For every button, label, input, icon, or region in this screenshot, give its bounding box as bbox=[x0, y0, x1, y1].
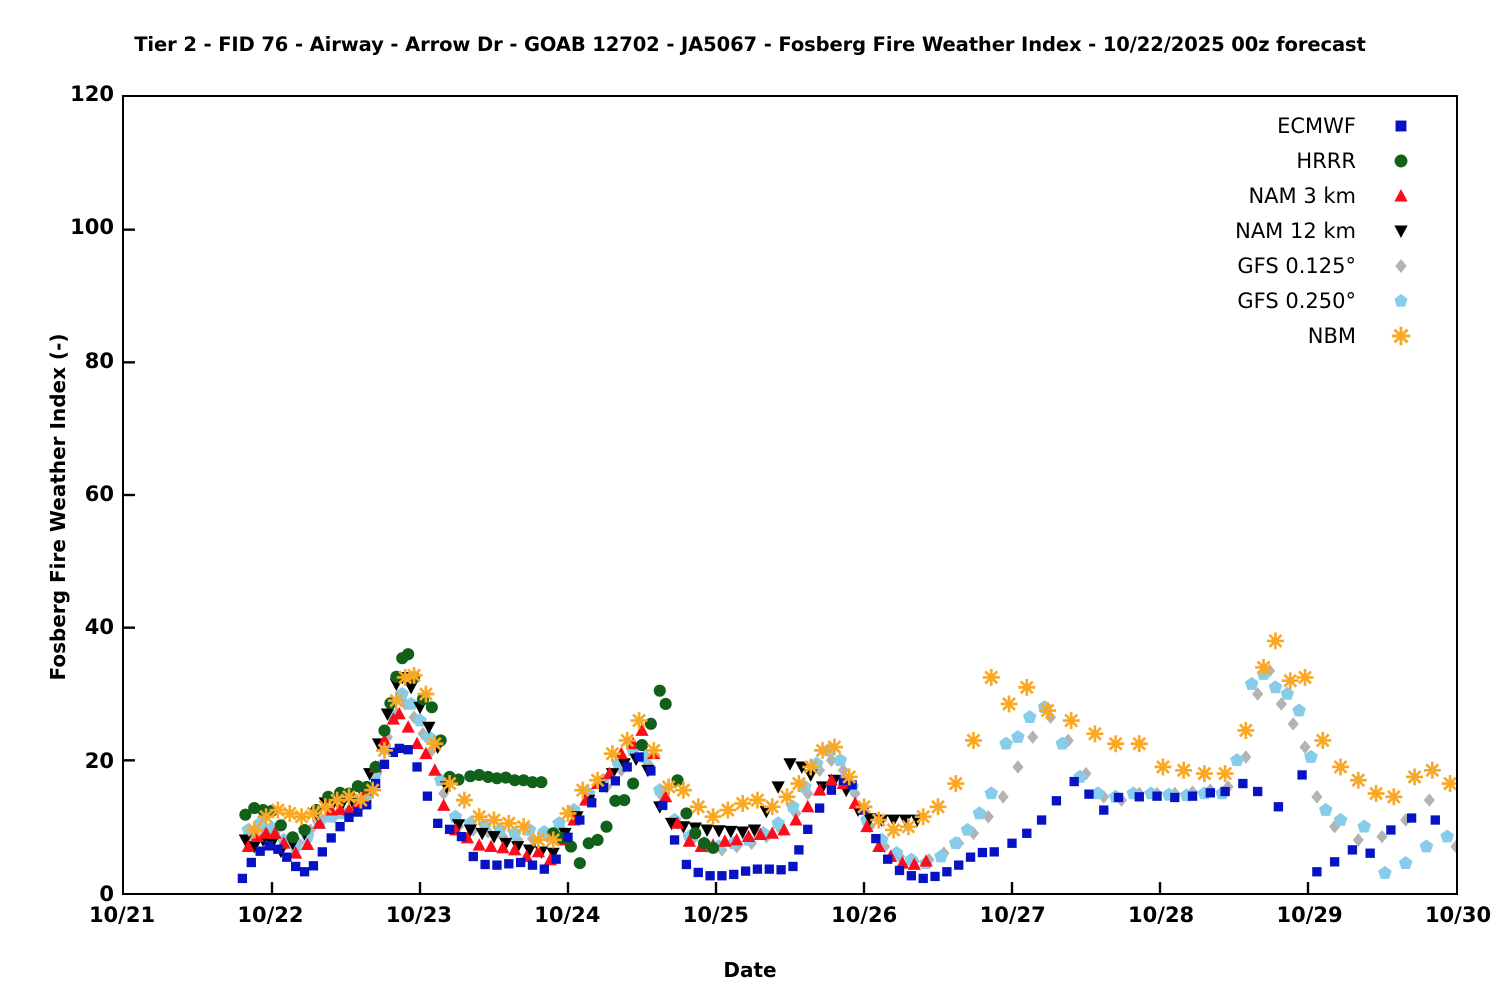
legend-item-nam-3-km[interactable]: NAM 3 km bbox=[1150, 178, 1412, 213]
y-tick-label: 60 bbox=[0, 482, 114, 506]
legend-item-label: HRRR bbox=[1296, 149, 1390, 173]
legend-item-hrrr[interactable]: HRRR bbox=[1150, 143, 1412, 178]
forecast-chart-figure: Tier 2 - FID 76 - Airway - Arrow Dr - GO… bbox=[0, 0, 1500, 1000]
x-tick-label: 10/22 bbox=[200, 903, 340, 927]
legend-item-ecmwf[interactable]: ECMWF bbox=[1150, 108, 1412, 143]
square-marker-icon bbox=[1390, 113, 1412, 139]
legend-item-gfs-0-125-[interactable]: GFS 0.125° bbox=[1150, 248, 1412, 283]
x-tick-label: 10/29 bbox=[1240, 903, 1380, 927]
legend-item-label: GFS 0.250° bbox=[1237, 289, 1390, 313]
x-tick-label: 10/30 bbox=[1388, 903, 1500, 927]
pentagon-marker-icon bbox=[1390, 288, 1412, 314]
legend-item-label: ECMWF bbox=[1277, 114, 1390, 138]
legend-item-label: NAM 3 km bbox=[1248, 184, 1390, 208]
x-tick-label: 10/26 bbox=[794, 903, 934, 927]
y-tick-label: 80 bbox=[0, 349, 114, 373]
circle-marker-icon bbox=[1390, 148, 1412, 174]
x-tick-label: 10/21 bbox=[52, 903, 192, 927]
legend-item-gfs-0-250-[interactable]: GFS 0.250° bbox=[1150, 283, 1412, 318]
chart-title: Tier 2 - FID 76 - Airway - Arrow Dr - GO… bbox=[0, 33, 1500, 56]
series-ecmwf bbox=[238, 744, 1456, 883]
y-tick-label: 40 bbox=[0, 615, 114, 639]
x-tick-label: 10/23 bbox=[349, 903, 489, 927]
triangle-down-marker-icon bbox=[1390, 218, 1412, 244]
legend-item-label: NBM bbox=[1308, 324, 1390, 348]
x-tick-label: 10/25 bbox=[646, 903, 786, 927]
y-tick-label: 20 bbox=[0, 749, 114, 773]
x-tick-label: 10/24 bbox=[497, 903, 637, 927]
x-tick-label: 10/27 bbox=[943, 903, 1083, 927]
legend-item-nam-12-km[interactable]: NAM 12 km bbox=[1150, 213, 1412, 248]
x-tick-label: 10/28 bbox=[1091, 903, 1231, 927]
chart-legend: ECMWFHRRRNAM 3 kmNAM 12 kmGFS 0.125°GFS … bbox=[1150, 108, 1412, 353]
y-tick-label: 120 bbox=[0, 82, 114, 106]
x-axis-label: Date bbox=[0, 958, 1500, 982]
legend-item-label: GFS 0.125° bbox=[1237, 254, 1390, 278]
legend-item-label: NAM 12 km bbox=[1235, 219, 1390, 243]
y-tick-label: 100 bbox=[0, 215, 114, 239]
asterisk-marker-icon bbox=[1390, 323, 1412, 349]
legend-item-nbm[interactable]: NBM bbox=[1150, 318, 1412, 353]
diamond-marker-icon bbox=[1390, 253, 1412, 279]
triangle-up-marker-icon bbox=[1390, 183, 1412, 209]
